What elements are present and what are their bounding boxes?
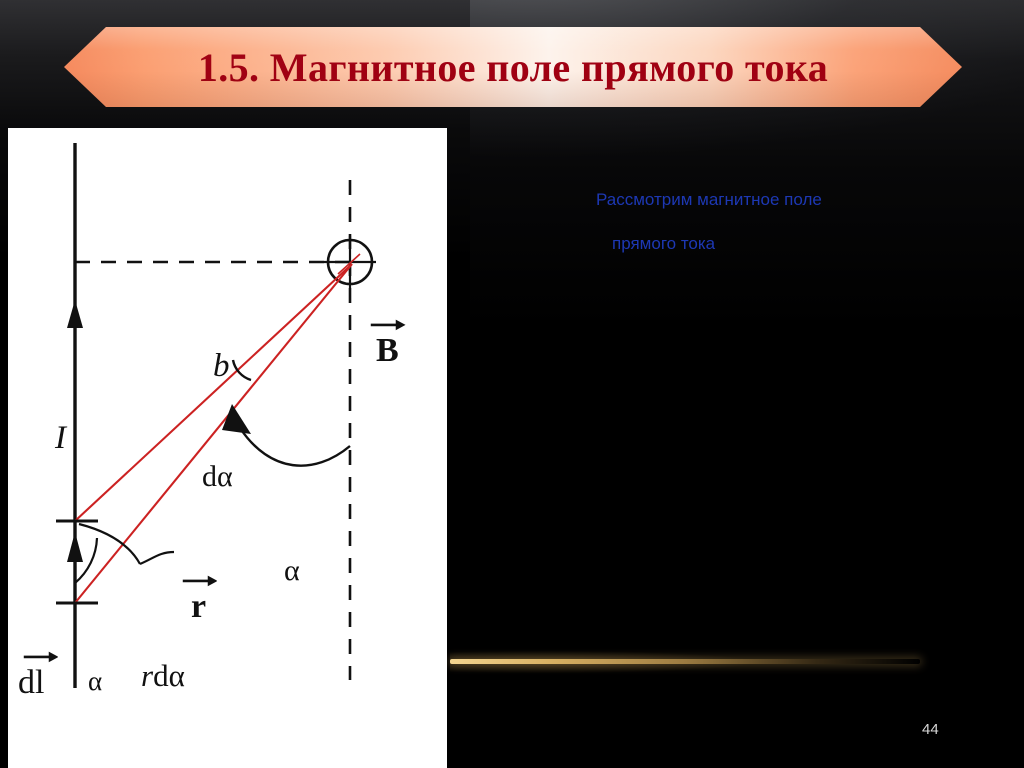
label-dl-l: l: [35, 664, 44, 701]
label-dl-d: d: [18, 664, 35, 701]
label-dalpha: dα: [202, 462, 233, 492]
slide-canvas: 1.5. Магнитное поле прямого тока Рассмот…: [0, 0, 1024, 768]
rdalpha-leader: [140, 552, 174, 564]
magnetic-field-diagram: [8, 128, 447, 768]
caption-line-2: прямого тока: [612, 234, 715, 254]
rdalpha-arc: [79, 524, 140, 564]
label-distance-b: b: [213, 350, 230, 383]
ray-lower: [75, 264, 352, 603]
label-r-text: r: [191, 588, 206, 625]
gold-streak-decoration: [450, 659, 920, 664]
label-rdalpha-dalpha: dα: [153, 658, 185, 693]
page-title: 1.5. Магнитное поле прямого тока: [198, 44, 828, 91]
vector-arrow-icon: [181, 572, 217, 586]
element-dl-arrowhead: [67, 532, 83, 562]
caption-line-1: Рассмотрим магнитное поле: [596, 190, 822, 210]
page-number: 44: [922, 721, 939, 738]
label-B-text: B: [376, 332, 399, 369]
label-rdalpha-r: r: [141, 658, 153, 693]
dalpha-arc: [233, 360, 251, 380]
label-arc-length-rdalpha: rdα: [141, 660, 185, 691]
label-field-vector-B: B: [376, 334, 399, 368]
vector-arrow-icon: [23, 648, 59, 662]
current-arrowhead: [67, 300, 83, 328]
alpha-arc-arrowhead: [222, 404, 251, 434]
label-element-vector-dl: d l: [18, 666, 44, 700]
label-alpha-at-element: α: [88, 668, 102, 695]
title-banner: 1.5. Магнитное поле прямого тока: [64, 27, 962, 107]
vector-arrow-icon: [370, 316, 406, 330]
alpha-arc: [240, 428, 350, 466]
label-alpha: α: [284, 556, 300, 586]
label-radius-vector-r: r: [191, 590, 206, 624]
label-current-I: I: [55, 422, 66, 455]
figure-panel: b I B dα α r d: [8, 128, 447, 768]
